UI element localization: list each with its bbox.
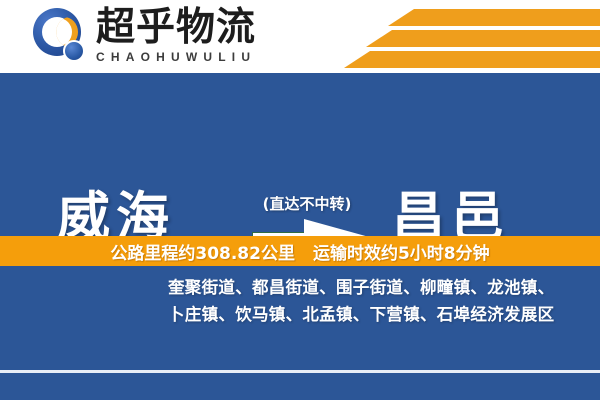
distance-label: 公路里程约308.82公里 xyxy=(110,239,295,264)
company-name-en: CHAOHUWULIU xyxy=(96,50,306,64)
logo-dot-shape xyxy=(63,40,85,62)
duration-label: 运输时效约5小时8分钟 xyxy=(313,239,490,264)
direct-route-note: (直达不中转) xyxy=(232,193,382,214)
service-areas-line-2: 卜庄镇、饮马镇、北孟镇、下营镇、石埠经济发展区 xyxy=(168,301,568,328)
route-info-inner: 公路里程约308.82公里 运输时效约5小时8分钟 xyxy=(110,239,489,264)
brand-wordmark: 超乎物流 CHAOHUWULIU xyxy=(96,7,306,64)
circle-q-logo-icon xyxy=(33,8,91,66)
stripe-2 xyxy=(366,30,600,47)
route-section: 威海 (直达不中转) 【往返运输】 昌邑 xyxy=(0,73,600,236)
decorative-stripes xyxy=(330,0,600,73)
company-name-cn: 超乎物流 xyxy=(96,7,306,49)
bottom-divider xyxy=(0,370,600,373)
header-bar: 超乎物流 CHAOHUWULIU xyxy=(0,0,600,73)
logistics-route-banner: 超乎物流 CHAOHUWULIU 威海 (直达不中转) 【往返运输】 昌邑 公路… xyxy=(0,0,600,400)
service-areas-section: 奎聚街道、都昌街道、围子街道、柳疃镇、龙池镇、 卜庄镇、饮马镇、北孟镇、下营镇、… xyxy=(0,266,600,400)
stripe-1 xyxy=(388,9,600,26)
route-info-bar: 公路里程约308.82公里 运输时效约5小时8分钟 xyxy=(0,236,600,266)
service-areas-list: 奎聚街道、都昌街道、围子街道、柳疃镇、龙池镇、 卜庄镇、饮马镇、北孟镇、下营镇、… xyxy=(168,274,568,328)
stripe-3 xyxy=(344,51,600,68)
service-areas-line-1: 奎聚街道、都昌街道、围子街道、柳疃镇、龙池镇、 xyxy=(168,274,568,301)
